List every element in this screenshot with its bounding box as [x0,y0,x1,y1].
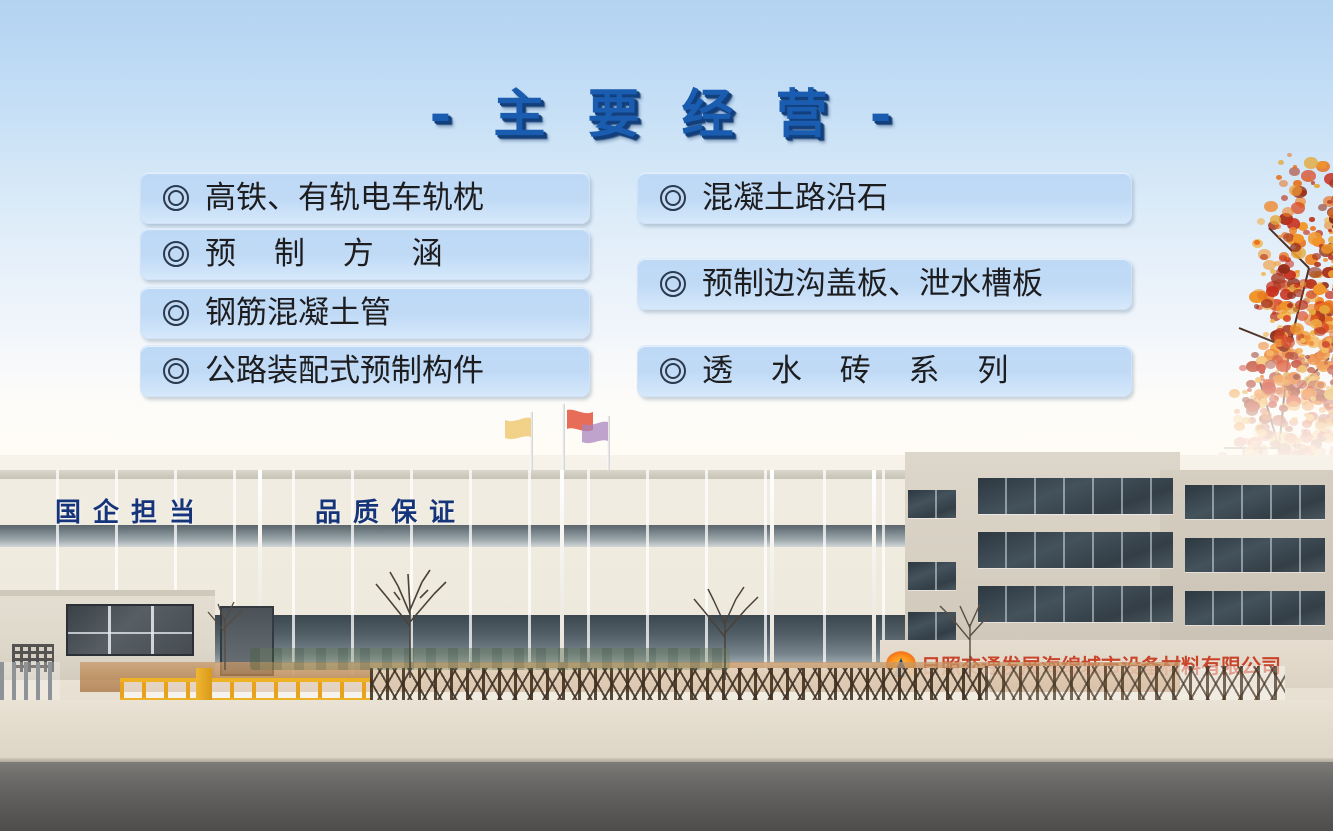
asphalt-road [0,762,1333,831]
office-window [1185,538,1325,572]
gatehouse-window [66,604,194,656]
facade-column [560,470,564,675]
facade-column [770,470,774,675]
service-pill[interactable]: 高铁、有轨电车轨枕 [140,172,590,224]
concrete-apron [0,700,1333,766]
factory-sign-right: 品质保证 [315,492,467,529]
factory-sign-left: 国企担当 [55,492,207,529]
bare-tree [930,572,1010,677]
service-label: 混凝土路沿石 [702,183,888,214]
double-circle-icon [163,358,189,384]
service-pill[interactable]: 预 制 方 涵 [140,228,590,280]
yellow-barrier-rail [120,678,370,702]
double-circle-icon [660,358,686,384]
service-pill[interactable]: 公路装配式预制构件 [140,345,590,397]
office-window [1185,591,1325,625]
service-pill[interactable]: 预制边沟盖板、泄水槽板 [637,258,1132,310]
service-label: 高铁、有轨电车轨枕 [205,183,484,214]
service-label: 透 水 砖 系 列 [702,356,1022,387]
poster-canvas: - 主 要 经 营 - 高铁、有轨电车轨枕 预 制 方 涵 钢筋混凝土管 公路装… [0,0,1333,831]
service-pill[interactable]: 钢筋混凝土管 [140,287,590,339]
office-window [908,490,956,518]
gold-flag [503,416,533,442]
double-circle-icon [660,271,686,297]
service-label: 预 制 方 涵 [205,239,457,270]
service-label: 预制边沟盖板、泄水槽板 [702,269,1043,300]
double-circle-icon [163,185,189,211]
double-circle-icon [660,185,686,211]
facade-column [872,470,876,675]
purple-flag [580,420,610,446]
service-pill[interactable]: 透 水 砖 系 列 [637,345,1132,397]
shrub-row [250,648,730,670]
double-circle-icon [163,241,189,267]
service-label: 公路装配式预制构件 [205,356,484,387]
office-window [978,532,1173,568]
office-window [978,478,1173,514]
double-circle-icon [163,300,189,326]
service-pill[interactable]: 混凝土路沿石 [637,172,1132,224]
service-label: 钢筋混凝土管 [205,298,391,329]
office-window [1185,485,1325,519]
